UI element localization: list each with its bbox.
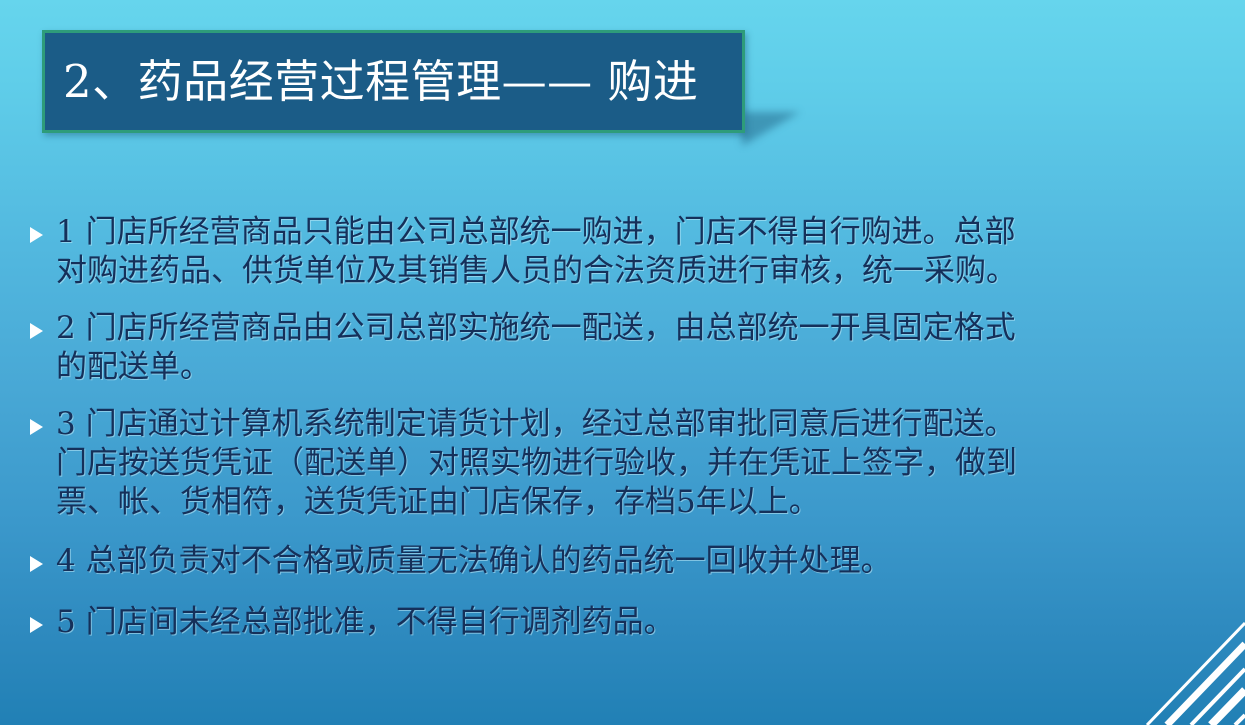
bullet-line: 3 门店通过计算机系统制定请货计划，经过总部审批同意后进行配送。 (56, 405, 1245, 444)
bullet-line: 的配送单。 (56, 348, 1245, 387)
slide: 2、药品经营过程管理—— 购进 1 门店所经营商品只能由公司总部统一购进，门店不… (0, 0, 1245, 725)
bullet-line: 4 总部负责对不合格或质量无法确认的药品统一回收并处理。 (56, 542, 1245, 581)
list-item: 2 门店所经营商品由公司总部实施统一配送，由总部统一开具固定格式 的配送单。 (30, 309, 1245, 387)
triangle-right-icon (30, 213, 54, 243)
list-item-text: 3 门店通过计算机系统制定请货计划，经过总部审批同意后进行配送。 门店按送货凭证… (56, 405, 1245, 522)
list-item: 1 门店所经营商品只能由公司总部统一购进，门店不得自行购进。总部 对购进药品、供… (30, 213, 1245, 291)
triangle-right-icon (30, 309, 54, 339)
list-item-text: 1 门店所经营商品只能由公司总部统一购进，门店不得自行购进。总部 对购进药品、供… (56, 213, 1245, 291)
banner-fold-shadow (742, 112, 800, 146)
bullet-line: 门店按送货凭证（配送单）对照实物进行验收，并在凭证上签字，做到 (56, 444, 1245, 483)
bullet-list: 1 门店所经营商品只能由公司总部统一购进，门店不得自行购进。总部 对购进药品、供… (30, 213, 1245, 642)
page-title: 2、药品经营过程管理—— 购进 (45, 58, 698, 105)
triangle-right-icon (30, 405, 54, 435)
triangle-right-icon (30, 603, 54, 633)
title-banner: 2、药品经营过程管理—— 购进 (42, 30, 745, 133)
triangle-right-icon (30, 542, 54, 572)
list-item: 3 门店通过计算机系统制定请货计划，经过总部审批同意后进行配送。 门店按送货凭证… (30, 405, 1245, 522)
list-item: 4 总部负责对不合格或质量无法确认的药品统一回收并处理。 (30, 542, 1245, 581)
list-item: 5 门店间未经总部批准，不得自行调剂药品。 (30, 603, 1245, 642)
list-item-text: 2 门店所经营商品由公司总部实施统一配送，由总部统一开具固定格式 的配送单。 (56, 309, 1245, 387)
bullet-line: 2 门店所经营商品由公司总部实施统一配送，由总部统一开具固定格式 (56, 309, 1245, 348)
bullet-line: 5 门店间未经总部批准，不得自行调剂药品。 (56, 603, 1245, 642)
list-item-text: 4 总部负责对不合格或质量无法确认的药品统一回收并处理。 (56, 542, 1245, 581)
bullet-line: 对购进药品、供货单位及其销售人员的合法资质进行审核，统一采购。 (56, 252, 1245, 291)
bullet-line: 1 门店所经营商品只能由公司总部统一购进，门店不得自行购进。总部 (56, 213, 1245, 252)
list-item-text: 5 门店间未经总部批准，不得自行调剂药品。 (56, 603, 1245, 642)
bullet-line: 票、帐、货相符，送货凭证由门店保存，存档5年以上。 (56, 483, 1245, 522)
